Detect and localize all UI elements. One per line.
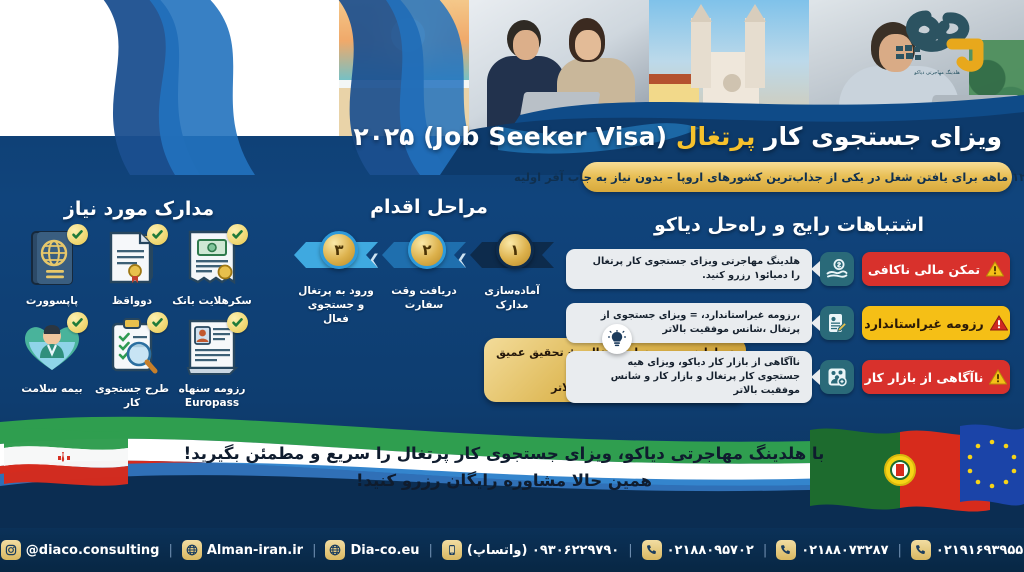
job-search-plan-icon	[100, 316, 164, 378]
check-badge	[227, 312, 248, 333]
contact-website-2[interactable]: Alman-iran.ir	[182, 540, 303, 560]
step-item-2[interactable]: ۲ دریافت وقت سفارت	[382, 228, 466, 280]
contact-value: ۰۲۱۹۱۶۹۳۹۵۵	[936, 543, 1023, 558]
check-badge	[67, 224, 88, 245]
contact-website-1[interactable]: Dia-co.eu	[325, 540, 419, 560]
title-part1: ویزای جستجوی کار	[755, 122, 1002, 151]
separator: |	[312, 543, 316, 558]
contact-value: Alman-iran.ir	[207, 543, 303, 558]
mistake-row: ناآگاهی از بازار کار ناآگاهی از بازار کا…	[566, 354, 1010, 400]
contact-value: @diaco.consulting	[26, 543, 160, 558]
contact-whatsapp[interactable]: ۰۹۳۰۶۲۲۹۷۹۰ (واتساپ)	[442, 540, 619, 560]
contact-instagram[interactable]: @diaco.consulting	[1, 540, 160, 560]
beach-sunset-photo	[339, 0, 469, 136]
steps-heading: مراحل اقدام	[314, 196, 544, 218]
warning-icon	[989, 369, 1007, 385]
separator: |	[898, 543, 902, 558]
documents-grid: سکرهلایت بانک دوواقظ	[8, 228, 256, 417]
contact-value: ۰۲۱۸۸۰۹۵۷۰۲	[667, 543, 754, 558]
health-insurance-icon	[20, 316, 84, 378]
document-label: دوواقظ	[92, 294, 172, 308]
check-badge	[147, 224, 168, 245]
document-label: طرح جستجوی کار	[92, 382, 172, 410]
resume-edit-icon	[820, 306, 854, 340]
document-item[interactable]: طرح جستجوی کار	[92, 316, 172, 410]
instagram-icon	[1, 540, 21, 560]
badge-label: رزومه غیراستاندارد	[864, 316, 983, 331]
globe-icon	[325, 540, 345, 560]
separator: |	[429, 543, 433, 558]
step-item-1[interactable]: ۱ آماده‌سازی مدارک	[470, 228, 554, 280]
infographic-poster: هلدینگ مهاجرتی دیاکو ویزای جستجوی کار پر…	[0, 0, 1024, 572]
man-face	[513, 30, 539, 60]
passport-icon	[20, 228, 84, 290]
globe-icon	[182, 540, 202, 560]
cta-block: با هلدینگ مهاجرتی دیاکو، ویزای جستجوی کا…	[174, 440, 834, 494]
separator: |	[763, 543, 767, 558]
europass-cv-icon	[180, 316, 244, 378]
status-badge[interactable]: رزومه غیراستاندارد	[862, 306, 1010, 340]
status-badge[interactable]: تمکن مالی ناکافی	[862, 252, 1010, 286]
contact-phone-3[interactable]: ۰۲۱۸۸۰۹۵۷۰۲	[642, 540, 754, 560]
warning-icon	[990, 315, 1008, 331]
contact-footer: ۰۲۱۹۱۶۹۳۹۵۵ | ۰۲۱۸۸۰۷۳۲۸۷ | ۰۲۱۸۸۰۹۵۷۰۲ …	[0, 528, 1024, 572]
check-badge	[147, 312, 168, 333]
step-number: ۳	[320, 231, 358, 269]
document-label: سکرهلایت بانک	[172, 294, 252, 308]
document-label: پاپسوورت	[12, 294, 92, 308]
step-caption: دریافت وقت سفارت	[382, 284, 466, 312]
phone-icon	[911, 540, 931, 560]
document-item[interactable]: بیمه سلامت	[12, 316, 92, 410]
brand-logo[interactable]: هلدینگ مهاجرتی دیاکو	[878, 6, 1010, 110]
check-badge	[227, 224, 248, 245]
contact-value: ۰۲۱۸۸۰۷۳۲۸۷	[801, 543, 888, 558]
woman-face	[575, 30, 601, 60]
diaco-logo-icon	[896, 8, 992, 74]
steps-flow: ۱ آماده‌سازی مدارک ❯❯ ۲ دریافت وقت سفارت…	[299, 228, 554, 286]
document-item[interactable]: سکرهلایت بانک	[172, 228, 252, 308]
phone-icon	[642, 540, 662, 560]
mistake-row: تمکن مالی ناکافی هلدینگ مهاجرتی ویزای جس…	[566, 246, 1010, 292]
document-item[interactable]: دوواقظ	[92, 228, 172, 308]
contact-value: ۰۹۳۰۶۲۲۹۷۹۰ (واتساپ)	[467, 543, 619, 558]
step-number: ۱	[496, 231, 534, 269]
eu-flag	[960, 424, 1024, 505]
document-item[interactable]: رزومه سنهاه Europass	[172, 316, 252, 410]
church-spire-left	[690, 4, 712, 22]
warning-icon	[986, 261, 1004, 277]
separator: |	[168, 543, 172, 558]
mobile-icon	[442, 540, 462, 560]
mistakes-list: تمکن مالی ناکافی هلدینگ مهاجرتی ویزای جس…	[566, 246, 1010, 408]
title-highlight: پرتغال	[676, 122, 756, 151]
check-badge	[67, 312, 88, 333]
church-tower-left	[691, 18, 711, 88]
status-badge[interactable]: ناآگاهی از بازار کار	[862, 360, 1010, 394]
rose-window	[723, 74, 741, 92]
badge-label: ناآگاهی از بازار کار	[865, 370, 984, 385]
church-tower-right	[745, 18, 765, 88]
mistake-row: رزومه غیراستاندارد ،رزومه غیراستاندارد، …	[566, 300, 1010, 346]
document-item[interactable]: پاپسوورت	[12, 228, 92, 308]
separator: |	[628, 543, 632, 558]
solution-bubble: ناآگاهی از بازار کار دیاکو، ویزای هیه جس…	[566, 351, 812, 403]
logo-subtext: هلدینگ مهاجرتی دیاکو	[894, 70, 980, 77]
lisbon-church-photo	[649, 0, 809, 136]
money-in-hand-icon	[820, 252, 854, 286]
couple-with-laptop-photo	[469, 0, 649, 136]
header-white-space	[0, 0, 339, 136]
document-label: رزومه سنهاه Europass	[172, 382, 252, 410]
lightbulb-icon	[602, 324, 632, 354]
cta-line-1: با هلدینگ مهاجرتی دیاکو، ویزای جستجوی کا…	[174, 440, 834, 467]
church-spire-right	[744, 4, 766, 22]
cta-line-2: همین حالا مشاوره رایگان رزرو کنید!	[174, 467, 834, 494]
contact-value: Dia-co.eu	[350, 543, 419, 558]
solution-bubble: هلدینگ مهاجرتی ویزای جستجوی کار پرتغال ر…	[566, 249, 812, 289]
badge-label: تمکن مالی ناکافی	[868, 262, 980, 277]
page-title: ویزای جستجوی کار پرتغال (Job Seeker Visa…	[402, 122, 1002, 151]
sun-shape	[391, 18, 425, 52]
mistakes-heading: اشتباهات رایج و راه‌حل دیاکو	[574, 214, 1004, 236]
contact-phone-1[interactable]: ۰۲۱۹۱۶۹۳۹۵۵	[911, 540, 1023, 560]
title-part2: (Job Seeker Visa) ۲۰۲۵	[353, 122, 676, 151]
market-research-icon	[820, 360, 854, 394]
contact-phone-2[interactable]: ۰۲۱۸۸۰۷۳۲۸۷	[776, 540, 888, 560]
document-label: بیمه سلامت	[12, 382, 92, 396]
documents-heading: مدارک مورد نیاز	[14, 198, 264, 220]
iran-flag	[4, 428, 128, 485]
subtitle-banner: فرصت ۶-۱۲ ماهه برای یافتن شغل در یکی از …	[582, 162, 1012, 192]
phone-icon	[776, 540, 796, 560]
bank-statement-icon	[180, 228, 244, 290]
header-photo-strip	[0, 0, 1024, 136]
certificate-documents-icon	[100, 228, 164, 290]
step-caption: ورود به پرتغال و جستجوی فعال	[294, 284, 378, 327]
step-item-3[interactable]: ۳ ورود به پرتغال و جستجوی فعال	[294, 228, 378, 280]
step-number: ۲	[408, 231, 446, 269]
step-caption: آماده‌سازی مدارک	[470, 284, 554, 312]
